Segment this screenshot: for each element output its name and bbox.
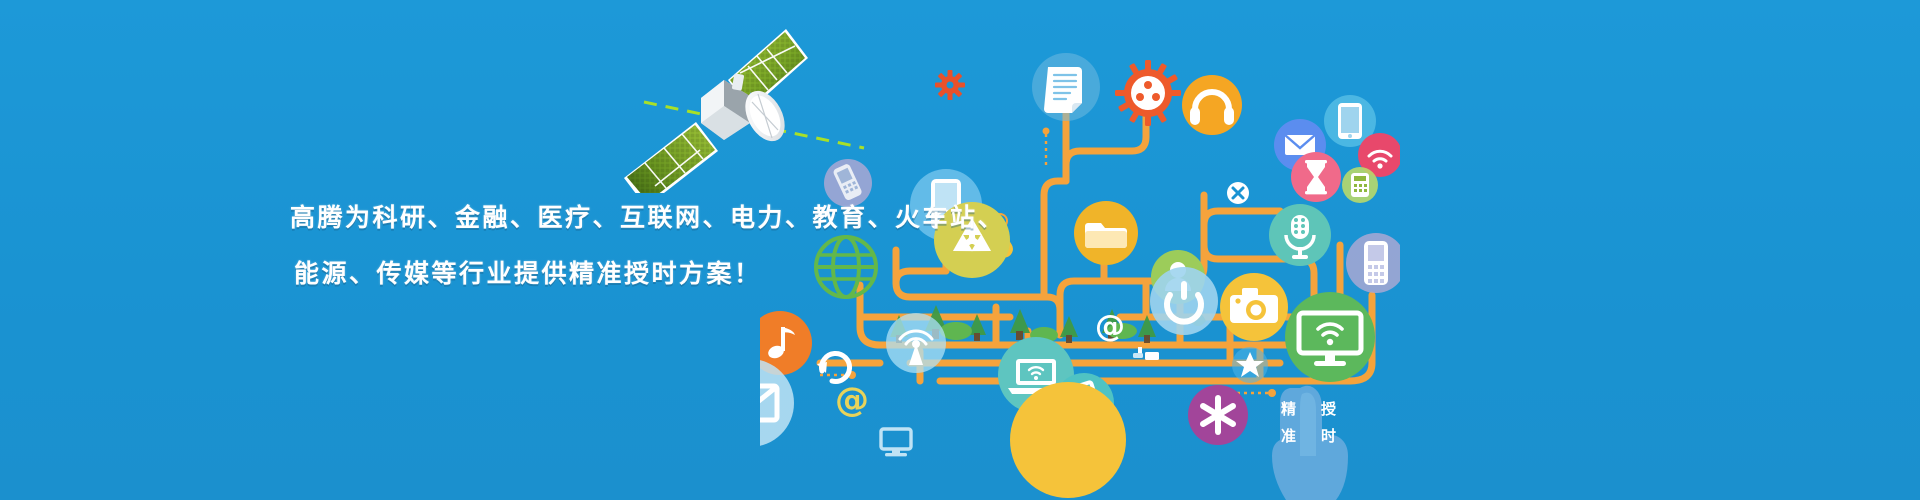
monitor-wifi-icon	[1285, 292, 1375, 382]
hand-pointer-icon	[1248, 382, 1368, 500]
satellite-body	[701, 73, 750, 140]
microphone-icon	[1269, 204, 1331, 266]
close-icon	[1227, 182, 1249, 204]
asterisk-icon	[1188, 385, 1248, 445]
flip-phone-icon	[824, 159, 872, 207]
headphones-icon	[1182, 75, 1242, 135]
gear-icon	[935, 70, 965, 100]
refresh-icon	[817, 353, 850, 381]
flip-phone-right-icon	[1346, 233, 1400, 293]
at-sign-icon: @	[1095, 309, 1125, 344]
hourglass-icon	[1291, 152, 1341, 202]
calculator-icon	[1342, 167, 1378, 203]
globe-icon	[816, 237, 876, 297]
broadcast-tower-icon	[886, 313, 946, 373]
monitor-small-icon	[881, 429, 911, 456]
folder-icon	[1074, 201, 1138, 265]
document-icon	[1032, 53, 1100, 121]
star-icon	[1232, 347, 1268, 383]
at-badge-icon: @	[835, 380, 869, 420]
recycle-icon	[934, 202, 1010, 278]
hero-banner: @	[0, 0, 1920, 500]
cogwheel-icon	[1115, 60, 1181, 126]
svg-text:@: @	[1095, 309, 1125, 344]
svg-text:@: @	[835, 380, 869, 420]
usb-icon	[1133, 347, 1159, 360]
hub-circle	[1010, 382, 1126, 498]
satellite-illustration	[600, 18, 830, 193]
power-icon	[1150, 267, 1218, 335]
solar-panel-lower	[624, 122, 718, 193]
camera-icon	[1220, 273, 1288, 341]
